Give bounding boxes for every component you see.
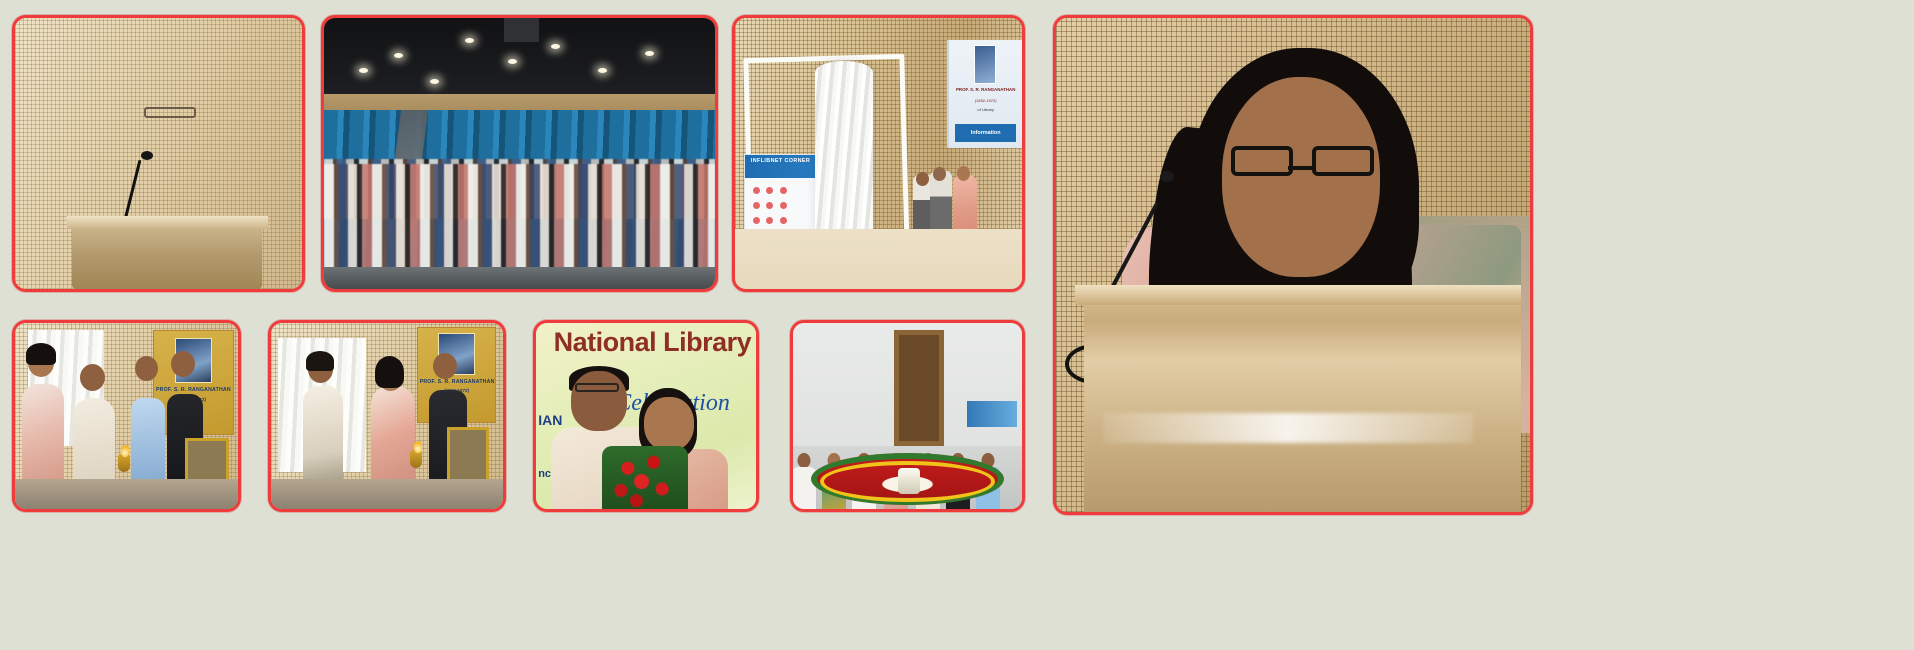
banner-partial-nc: nc <box>538 468 551 480</box>
hall-floor <box>735 229 1022 289</box>
speaker-glasses <box>144 107 196 118</box>
microphone-capsule <box>141 151 153 160</box>
auditorium-floor <box>324 267 715 289</box>
rose-bouquet <box>602 446 688 509</box>
ranganathan-years-label: (1892-1972) <box>953 98 1018 103</box>
lamp-flame <box>414 439 422 453</box>
unveiling-curtain <box>815 61 872 256</box>
ceiling-spotlight <box>508 59 517 64</box>
man-head <box>571 371 627 431</box>
photo-lamp-lighting-ceremony-2[interactable]: PROF. S. R. RANGANATHAN (1892-1972) <box>268 320 506 512</box>
logo-mark <box>766 187 773 194</box>
ceiling-spotlight <box>598 68 607 73</box>
woman-head <box>644 397 694 451</box>
logo-mark <box>766 202 773 209</box>
person-head <box>433 353 457 379</box>
audience-front-rows <box>324 164 715 283</box>
ranganathan-portrait <box>974 45 996 84</box>
photo-auditorium-audience[interactable] <box>321 15 718 292</box>
podium <box>72 224 261 289</box>
photo-inflibnet-corner-unveiling[interactable]: INFLIBNET CORNER <box>732 15 1025 292</box>
photo-bouquet-presentation[interactable]: National Library Celebration IAN nc ork … <box>533 320 759 512</box>
ceiling-spotlight <box>430 79 439 84</box>
man-glasses <box>575 383 619 392</box>
logo-mark <box>780 202 787 209</box>
banner-partial-ian: IAN <box>538 412 562 428</box>
person-head <box>916 172 929 186</box>
ceiling-spotlight <box>394 53 403 58</box>
glasses-left-lens <box>1231 146 1293 176</box>
logo-mark <box>753 187 760 194</box>
glasses-right-lens <box>1312 146 1374 176</box>
person-head <box>80 364 105 391</box>
person-hair <box>375 356 404 388</box>
information-label: Information <box>955 124 1016 141</box>
stage-floor <box>15 479 238 509</box>
speaker-face <box>1222 77 1380 277</box>
rangoli-centerpiece <box>898 468 920 494</box>
ranganathan-role-label: of Library <box>953 107 1018 112</box>
podium <box>1084 295 1520 512</box>
lamp-flame <box>121 443 129 457</box>
logo-mark <box>753 217 760 224</box>
photo-group-with-rangoli[interactable] <box>790 320 1025 512</box>
logo-mark <box>780 187 787 194</box>
ranganathan-name-label: PROF. S. R. RANGANATHAN <box>156 387 231 393</box>
photo-4-content <box>1056 18 1530 512</box>
ceiling-projector <box>504 18 539 42</box>
ranganathan-name-label: PROF. S. R. RANGANATHAN <box>953 87 1018 92</box>
wooden-door <box>894 330 944 445</box>
photo-lamp-lighting-ceremony-1[interactable]: PROF. S. R. RANGANATHAN (1892-1972) <box>12 320 241 512</box>
man-lighting-lamp <box>73 398 115 490</box>
ceiling-spotlight <box>465 38 474 43</box>
photo-2-content <box>324 18 715 289</box>
blue-wall-banner <box>967 401 1017 427</box>
photo-3-content: INFLIBNET CORNER <box>735 18 1022 289</box>
person-head <box>171 351 195 377</box>
inflibnet-corner-label: INFLIBNET CORNER <box>751 158 810 164</box>
ranganathan-name-label: PROF. S. R. RANGANATHAN <box>420 379 494 385</box>
banner-title-national-library: National Library <box>554 327 756 358</box>
podium-top-edge <box>1075 285 1521 305</box>
photo-6-content: PROF. S. R. RANGANATHAN (1892-1972) <box>271 323 503 509</box>
photo-7-content: National Library Celebration IAN nc ork … <box>536 323 756 509</box>
podium-top-edge <box>67 216 268 230</box>
logo-mark <box>753 202 760 209</box>
podium-highlight <box>1103 413 1473 443</box>
glasses-bridge <box>1288 166 1314 170</box>
logo-mark <box>780 217 787 224</box>
stage-floor <box>271 479 503 509</box>
ceiling-spotlight <box>551 44 560 49</box>
photo-5-content: PROF. S. R. RANGANATHAN (1892-1972) <box>15 323 238 509</box>
ranganathan-wall-sign: PROF. S. R. RANGANATHAN (1892-1972) of L… <box>947 40 1022 148</box>
ceiling-spotlight <box>359 68 368 73</box>
photo-collage: INFLIBNET CORNER <box>0 0 1914 650</box>
photo-speaker-at-podium[interactable] <box>12 15 305 292</box>
person-head <box>933 167 946 181</box>
logo-mark <box>766 217 773 224</box>
person-in-saree <box>953 175 977 235</box>
person-hair <box>26 343 56 365</box>
photo-woman-speaking-at-podium[interactable] <box>1053 15 1533 515</box>
photo-8-content <box>793 323 1022 509</box>
framed-portrait <box>447 427 489 483</box>
ceiling-spotlight <box>645 51 654 56</box>
person-head <box>798 453 811 468</box>
photo-1-content <box>15 18 302 289</box>
person-hair <box>306 351 334 371</box>
